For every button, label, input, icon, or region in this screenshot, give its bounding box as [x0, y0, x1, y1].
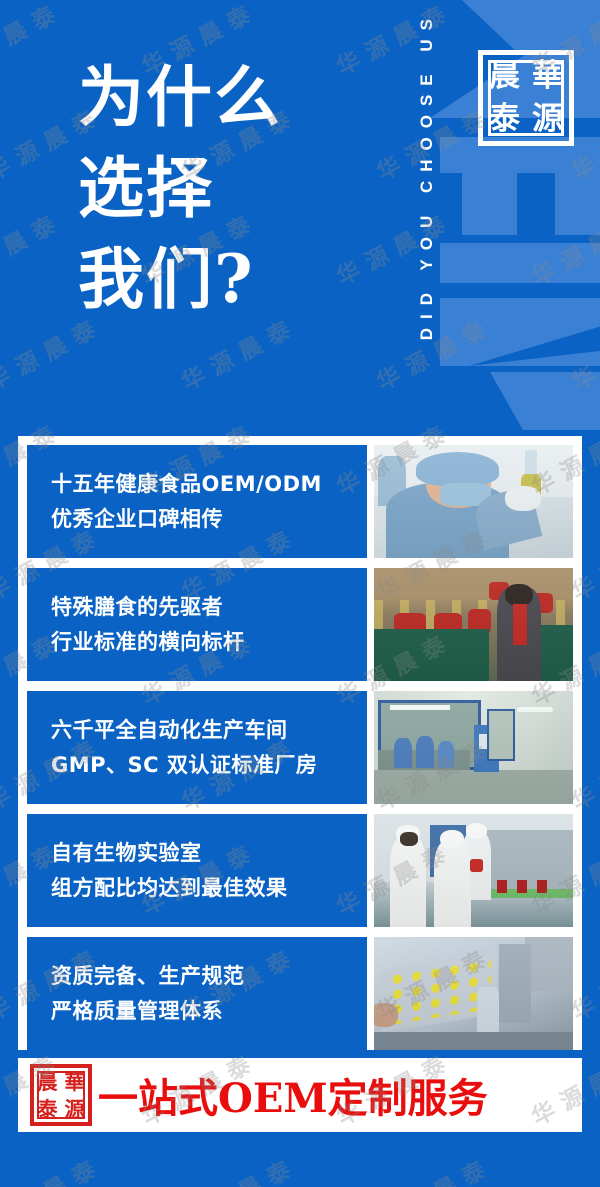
feature-photo-lab-technician: [374, 445, 573, 558]
feature-photo-cleanroom: [374, 691, 573, 804]
why-watermark-shape: [440, 298, 600, 366]
feature-card: 六千平全自动化生产车间 GMP、SC 双认证标准厂房: [27, 691, 573, 804]
why-watermark-shape: [462, 173, 517, 235]
seal-char-4: 泰: [489, 104, 520, 135]
seal-char-2: 晨: [489, 61, 520, 92]
why-watermark-shape: [440, 243, 600, 283]
brand-seal-logo: 華 晨 源 泰: [478, 50, 574, 146]
seal-char-2: 晨: [38, 1072, 58, 1092]
seal-char-4: 泰: [38, 1099, 58, 1119]
brand-seal-logo-red: 華 晨 源 泰: [30, 1064, 92, 1126]
feature-photo-blister-packaging: [374, 937, 573, 1050]
feature-card-text: 自有生物实验室 组方配比均达到最佳效果: [27, 814, 367, 927]
feature-line: 行业标准的横向标杆: [51, 625, 359, 659]
headline-line-1: 为什么: [78, 52, 282, 143]
why-watermark-shape: [555, 173, 600, 235]
feature-photo-production-line: [374, 814, 573, 927]
feature-line: 优秀企业口碑相传: [51, 502, 359, 536]
hero-section: 为什么 选择 我们? DID YOU CHOOSE US 華 晨 源 泰: [0, 0, 600, 430]
why-watermark-shape: [462, 0, 600, 55]
seal-char-1: 華: [65, 1072, 85, 1092]
feature-line: 六千平全自动化生产车间: [51, 713, 359, 747]
feature-line: GMP、SC 双认证标准厂房: [51, 748, 359, 782]
feature-cards-frame: 十五年健康食品OEM/ODM 优秀企业口碑相传 特殊膳食的先驱者 行业标准的横向…: [18, 436, 582, 1050]
feature-card-text: 资质完备、生产规范 严格质量管理体系: [27, 937, 367, 1050]
feature-card-text: 特殊膳食的先驱者 行业标准的横向标杆: [27, 568, 367, 681]
headline-line-3: 我们?: [78, 234, 282, 325]
bottom-cta-banner: 華 晨 源 泰 一站式OEM定制服务: [18, 1058, 582, 1132]
feature-card: 资质完备、生产规范 严格质量管理体系: [27, 937, 573, 1050]
feature-line: 组方配比均达到最佳效果: [51, 871, 359, 905]
seal-char-3: 源: [65, 1099, 85, 1119]
feature-line: 十五年健康食品OEM/ODM: [51, 467, 359, 501]
headline-line-2: 选择: [78, 143, 282, 234]
page-title: 为什么 选择 我们?: [78, 52, 282, 325]
feature-card: 十五年健康食品OEM/ODM 优秀企业口碑相传: [27, 445, 573, 558]
seal-char-1: 華: [532, 61, 563, 92]
feature-card-text: 六千平全自动化生产车间 GMP、SC 双认证标准厂房: [27, 691, 367, 804]
feature-card: 特殊膳食的先驱者 行业标准的横向标杆: [27, 568, 573, 681]
seal-char-3: 源: [532, 104, 563, 135]
feature-photo-conference-hall: [374, 568, 573, 681]
vertical-english-tagline: DID YOU CHOOSE US: [410, 10, 444, 410]
feature-card-text: 十五年健康食品OEM/ODM 优秀企业口碑相传: [27, 445, 367, 558]
feature-line: 特殊膳食的先驱者: [51, 590, 359, 624]
feature-line: 自有生物实验室: [51, 836, 359, 870]
feature-line: 资质完备、生产规范: [51, 959, 359, 993]
feature-card: 自有生物实验室 组方配比均达到最佳效果: [27, 814, 573, 927]
why-watermark-shape: [490, 372, 600, 430]
bottom-banner-text: 一站式OEM定制服务: [98, 1066, 488, 1124]
vertical-english-text: DID YOU CHOOSE US: [417, 10, 437, 340]
feature-line: 严格质量管理体系: [51, 994, 359, 1028]
bottom-blue-strip: [0, 1132, 600, 1187]
